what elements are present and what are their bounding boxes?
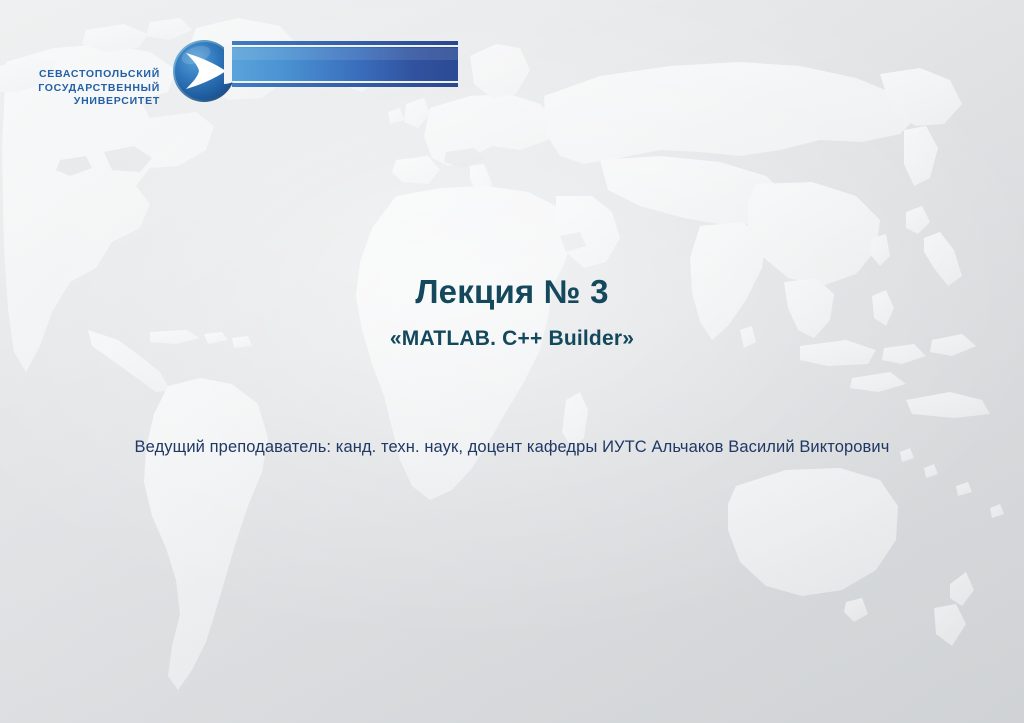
university-name-line-1: СЕВАСТОПОЛЬСКИЙ — [0, 68, 160, 82]
lecture-subtitle: «MATLAB. C++ Builder» — [0, 326, 1024, 352]
university-logo-block: СЕВАСТОПОЛЬСКИЙ ГОСУДАРСТВЕННЫЙ УНИВЕРСИ… — [0, 24, 480, 104]
blue-gradient-banner-bar — [224, 40, 458, 88]
title-area: Лекция № 3 «MATLAB. C++ Builder» — [0, 272, 1024, 352]
university-name: СЕВАСТОПОЛЬСКИЙ ГОСУДАРСТВЕННЫЙ УНИВЕРСИ… — [0, 68, 160, 109]
presentation-slide: СЕВАСТОПОЛЬСКИЙ ГОСУДАРСТВЕННЫЙ УНИВЕРСИ… — [0, 0, 1024, 723]
university-name-line-3: УНИВЕРСИТЕТ — [0, 95, 160, 109]
lecture-title: Лекция № 3 — [0, 272, 1024, 312]
presenter-line: Ведущий преподаватель: канд. техн. наук,… — [0, 436, 1024, 458]
university-name-line-2: ГОСУДАРСТВЕННЫЙ — [0, 82, 160, 96]
